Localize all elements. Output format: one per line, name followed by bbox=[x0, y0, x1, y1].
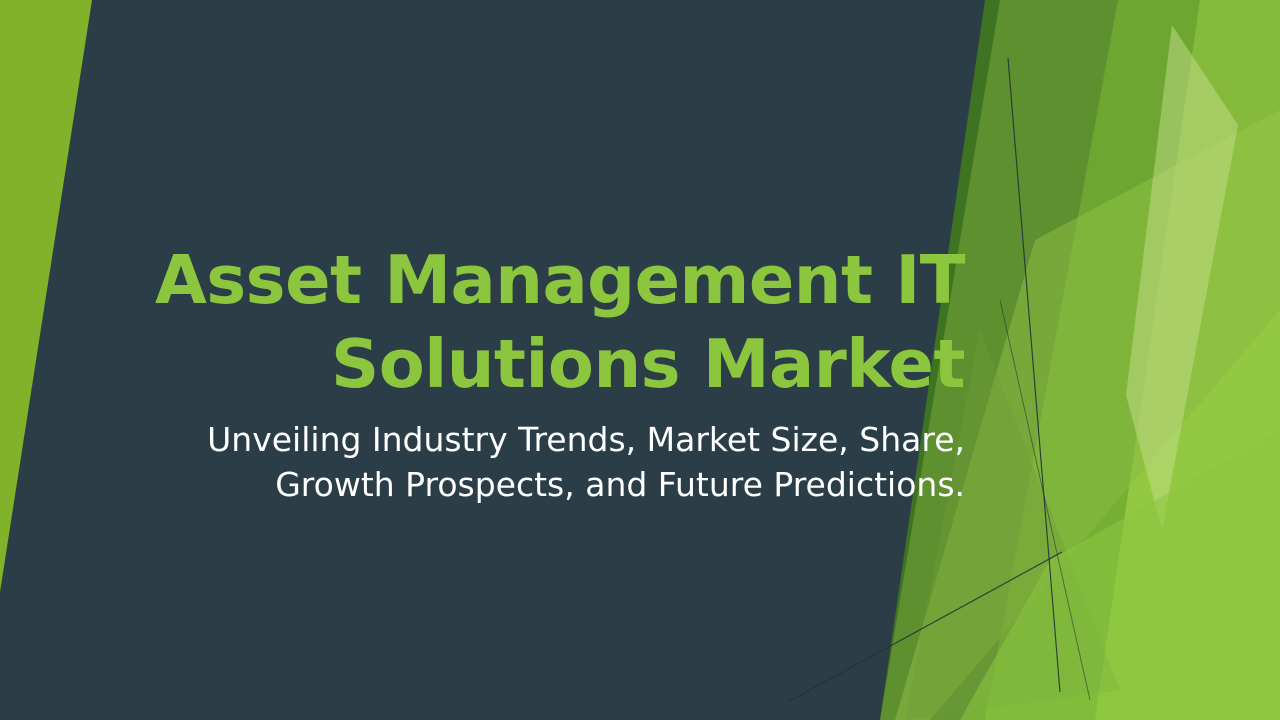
presentation-slide: Asset Management IT Solutions Market Unv… bbox=[0, 0, 1280, 720]
page-title: Asset Management IT Solutions Market bbox=[120, 238, 965, 407]
slide-subtitle: Unveiling Industry Trends, Market Size, … bbox=[120, 417, 965, 508]
title-text-block: Asset Management IT Solutions Market Unv… bbox=[120, 238, 965, 508]
